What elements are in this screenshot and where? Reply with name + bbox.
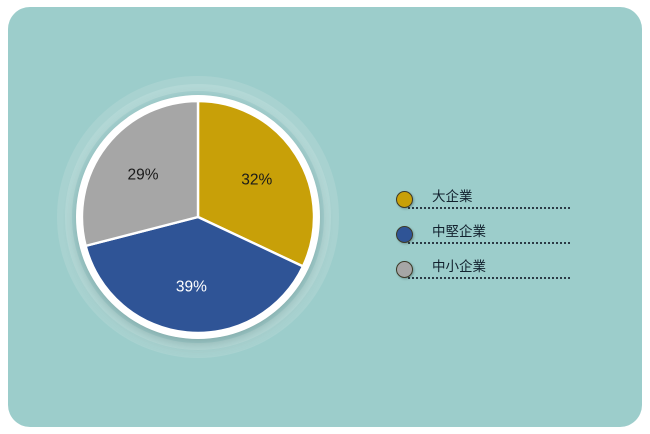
legend-marker-small-enterprise — [396, 261, 413, 278]
legend-leader-line — [408, 277, 570, 279]
legend-item-small-enterprise[interactable]: 中小企業 — [396, 255, 574, 290]
pie-slice-group — [82, 101, 314, 333]
legend-label-small-enterprise: 中小企業 — [432, 255, 486, 275]
legend-marker-midsize-enterprise — [396, 226, 413, 243]
legend-label-midsize-enterprise: 中堅企業 — [432, 220, 486, 240]
pie-graphic: 32%39%29% — [82, 101, 314, 333]
legend-label-large-enterprise: 大企業 — [432, 185, 473, 205]
pie-slice-data-label: 32% — [241, 172, 272, 189]
chart-panel: 32%39%29% 大企業 中堅企業 中小企業 — [8, 7, 642, 427]
pie-slice-data-label: 39% — [176, 278, 207, 295]
legend-marker-large-enterprise — [396, 191, 413, 208]
pie-slice-data-label: 29% — [127, 166, 158, 183]
legend-leader-line — [408, 242, 570, 244]
pie-chart-container: 32%39%29% — [8, 7, 388, 427]
legend-leader-line — [408, 207, 570, 209]
legend-item-large-enterprise[interactable]: 大企業 — [396, 185, 574, 220]
chart-legend: 大企業 中堅企業 中小企業 — [396, 185, 574, 290]
pie-svg: 32%39%29% — [82, 101, 314, 333]
pie-chart-screenshot: 32%39%29% 大企業 中堅企業 中小企業 — [0, 0, 650, 434]
legend-item-midsize-enterprise[interactable]: 中堅企業 — [396, 220, 574, 255]
